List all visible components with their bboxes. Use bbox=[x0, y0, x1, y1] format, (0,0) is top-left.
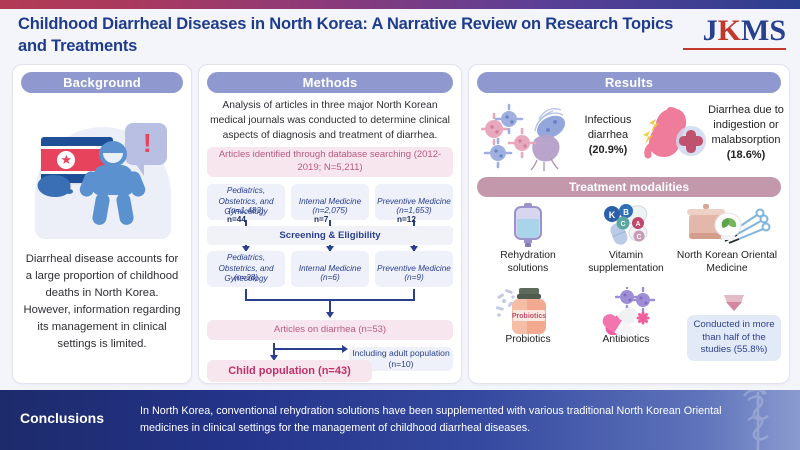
results-panel: Results bbox=[468, 64, 790, 384]
antibiotic-capsule-icon bbox=[577, 287, 675, 331]
treatment-rehydration: Rehydration solutions bbox=[479, 203, 577, 276]
flow-box-source-2-count: (n=2,075) bbox=[291, 206, 369, 215]
iv-bag-icon bbox=[479, 203, 577, 247]
title-block: Childhood Diarrheal Diseases in North Ko… bbox=[18, 14, 678, 58]
treatment-modalities-heading: Treatment modalities bbox=[477, 177, 781, 197]
treatment-probiotics-label: Probiotics bbox=[479, 333, 577, 346]
flow-box-eligible-1-count: (n=38) bbox=[207, 273, 285, 282]
vitamin-pills-icon: K B C A C bbox=[577, 203, 675, 247]
treatment-antibiotics: Antibiotics bbox=[577, 287, 675, 346]
flow-box-source-3-count: (n=1,653) bbox=[375, 206, 453, 215]
treatment-probiotics: Probiotics Probiotics bbox=[479, 287, 577, 346]
page-title: Childhood Diarrheal Diseases in North Ko… bbox=[18, 14, 678, 58]
infectious-diarrhea-label: Infectious diarrhea (20.9%) bbox=[577, 113, 639, 158]
background-panel: Background ★ ! Diarrheal disea bbox=[12, 64, 192, 384]
split-rail bbox=[273, 348, 343, 350]
indigestion-diarrhea-label: Diarrhea due to indigestion or malabsorp… bbox=[707, 103, 785, 162]
svg-text:A: A bbox=[635, 221, 640, 228]
graphical-abstract: Childhood Diarrheal Diseases in North Ko… bbox=[0, 0, 800, 450]
pathogens-icon bbox=[481, 103, 577, 171]
stomach-icon bbox=[639, 105, 709, 167]
indigestion-diarrhea-text: Diarrhea due to indigestion or malabsorp… bbox=[708, 104, 784, 146]
flow-box-eligible-3-count: (n=9) bbox=[375, 273, 453, 282]
treatment-oriental-medicine: North Korean Oriental Medicine bbox=[675, 203, 779, 276]
screened-count-3: n=12 bbox=[397, 215, 416, 224]
flow-box-source-1-count: (n=1,483) bbox=[207, 206, 285, 215]
methods-intro-text: Analysis of articles in three major Nort… bbox=[207, 99, 453, 144]
flow-box-identified: Articles identified through database sea… bbox=[207, 147, 453, 177]
conclusions-heading: Conclusions bbox=[20, 410, 104, 426]
flow-box-eligible-2-count: (n=6) bbox=[291, 273, 369, 282]
results-conclusion-box: Conducted in more than half of the studi… bbox=[687, 315, 781, 361]
sick-child-icon bbox=[85, 141, 147, 237]
svg-text:C: C bbox=[620, 221, 625, 228]
results-panel-heading: Results bbox=[477, 72, 781, 93]
svg-text:C: C bbox=[636, 234, 641, 241]
background-panel-heading: Background bbox=[21, 72, 183, 93]
flow-box-child-population: Child population (n=43) bbox=[207, 360, 372, 382]
logo-letter-k: K bbox=[718, 14, 741, 47]
svg-text:Probiotics: Probiotics bbox=[512, 313, 546, 320]
infectious-diarrhea-text: Infectious diarrhea bbox=[584, 114, 631, 141]
jkms-logo: JKMS bbox=[703, 16, 786, 46]
treatment-antibiotics-label: Antibiotics bbox=[577, 333, 675, 346]
flow-box-articles-on-diarrhea: Articles on diarrhea (n=53) bbox=[207, 320, 453, 340]
methods-panel: Methods Analysis of articles in three ma… bbox=[198, 64, 462, 384]
infectious-diarrhea-value: (20.9%) bbox=[589, 144, 628, 156]
logo-letters-ms: MS bbox=[741, 14, 786, 47]
treatment-vitamin-label: Vitamin supplementation bbox=[577, 249, 675, 276]
logo-underline bbox=[683, 48, 786, 50]
herbal-pot-icon bbox=[675, 203, 779, 247]
treatment-oriental-medicine-label: North Korean Oriental Medicine bbox=[675, 249, 779, 276]
flag-star-glyph: ★ bbox=[61, 154, 73, 166]
indigestion-diarrhea-value: (18.6%) bbox=[727, 149, 766, 161]
merge-stem-center bbox=[329, 299, 331, 313]
diarrhea-puddle-icon bbox=[38, 175, 71, 197]
svg-text:K: K bbox=[609, 210, 616, 220]
screening-eligibility-band: Screening & Eligibility bbox=[207, 226, 453, 245]
treatment-vitamin: K B C A C Vitamin supplementation bbox=[577, 203, 675, 276]
treatment-rehydration-label: Rehydration solutions bbox=[479, 249, 577, 276]
probiotics-bottle-icon: Probiotics bbox=[479, 287, 577, 331]
diarrhea-splash-icon bbox=[65, 189, 73, 194]
top-gradient-bar bbox=[0, 0, 800, 9]
merge-arrow-head bbox=[326, 312, 334, 318]
background-illustration: ★ ! bbox=[21, 101, 183, 241]
screened-count-1: n=44 bbox=[227, 215, 246, 224]
screened-count-2: n=7 bbox=[314, 215, 328, 224]
results-down-arrow-icon bbox=[721, 293, 747, 313]
split-arrow-head-right bbox=[342, 345, 348, 353]
conclusions-bar: Conclusions In North Korea, conventional… bbox=[0, 390, 800, 450]
methods-panel-heading: Methods bbox=[207, 72, 453, 93]
svg-text:B: B bbox=[623, 208, 629, 217]
conclusions-body-text: In North Korea, conventional rehydration… bbox=[140, 403, 760, 436]
logo-letter-j: J bbox=[703, 14, 718, 47]
background-body-text: Diarrheal disease accounts for a large p… bbox=[23, 251, 181, 353]
